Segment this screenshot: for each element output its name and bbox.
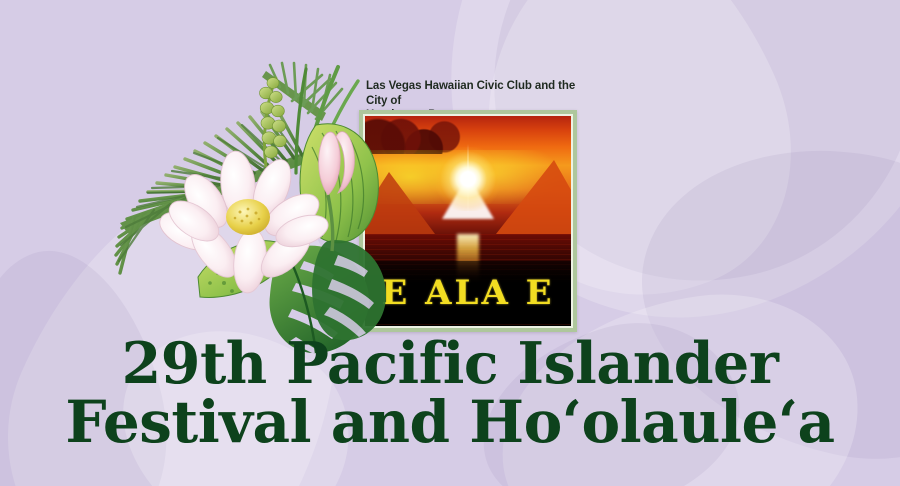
grass-blades-icon (296, 67, 358, 177)
event-poster: E ALA E (359, 110, 577, 332)
palm-frond-icon (116, 107, 312, 273)
variegated-leaf-icon (198, 241, 294, 298)
festival-banner: Las Vegas Hawaiian Civic Club and the Ci… (0, 0, 900, 486)
tropical-floral-arrangement (90, 55, 390, 355)
poster-title: E ALA E (381, 276, 554, 310)
palm-frond-icon (262, 63, 342, 121)
headline-line-1: 29th Pacific Islander (0, 336, 900, 392)
sunburst-icon (436, 147, 500, 211)
mountain-right (496, 160, 571, 234)
page-title: 29th Pacific Islander Festival and Hoʻol… (0, 336, 900, 451)
mountain-left (365, 172, 435, 234)
poster-title-plate: E ALA E (365, 261, 571, 324)
lotus-bud-icon (319, 132, 355, 251)
berry-cluster-icon (260, 77, 287, 167)
headline-line-2: Festival and Hoʻolauleʻa (0, 394, 900, 451)
presenter-line-1: Las Vegas Hawaiian Civic Club and the Ci… (366, 80, 575, 107)
poster-inner-rule: E ALA E (363, 114, 573, 328)
poster-artwork: E ALA E (365, 116, 571, 326)
lotus-flower-icon (154, 149, 332, 294)
